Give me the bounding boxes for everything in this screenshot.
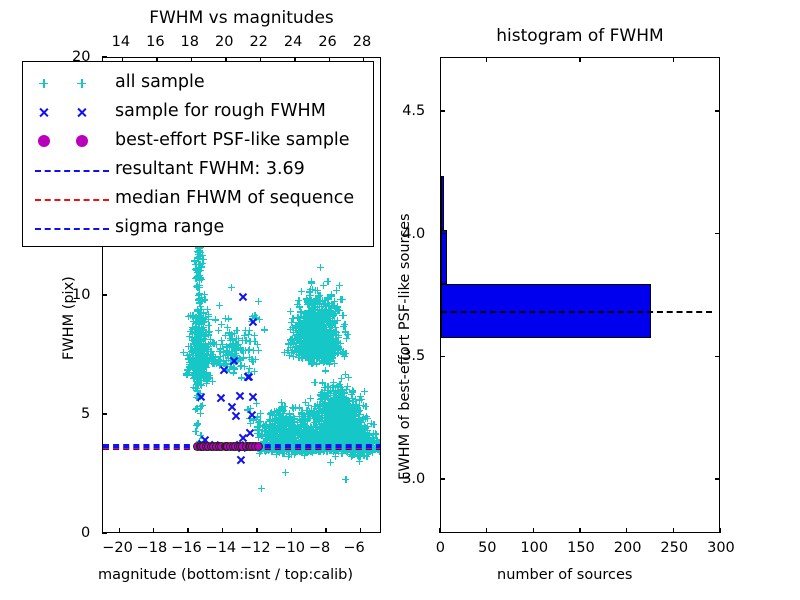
scatter-point-all-sample [322, 303, 329, 310]
scatter-point-all-sample [349, 452, 356, 459]
scatter-point-all-sample [200, 354, 207, 361]
scatter-point-all-sample [304, 298, 311, 305]
scatter-point-all-sample [348, 416, 355, 423]
scatter-point-all-sample [289, 337, 296, 344]
scatter-point-all-sample [192, 329, 199, 336]
scatter-point-all-sample [335, 402, 342, 409]
scatter-point-all-sample [315, 329, 322, 336]
scatter-point-all-sample [320, 324, 327, 331]
scatter-point-all-sample [339, 429, 346, 436]
scatter-point-all-sample [311, 433, 318, 440]
scatter-point-all-sample [303, 311, 310, 318]
scatter-point-all-sample [192, 428, 199, 435]
scatter-point-all-sample [349, 422, 356, 429]
scatter-point-all-sample [265, 434, 272, 441]
scatter-point-all-sample [197, 261, 204, 268]
scatter-point-all-sample [196, 343, 203, 350]
scatter-point-all-sample [304, 330, 311, 337]
legend-item[interactable]: sigma range [31, 213, 363, 242]
scatter-point-all-sample [290, 341, 297, 348]
scatter-point-all-sample [301, 415, 308, 422]
scatter-point-all-sample [370, 430, 377, 437]
scatter-point-all-sample [283, 413, 290, 420]
scatter-point-all-sample [341, 428, 348, 435]
scatter-point-all-sample [316, 317, 323, 324]
scatter-point-all-sample [352, 431, 359, 438]
scatter-point-all-sample [305, 321, 312, 328]
scatter-point-all-sample [361, 436, 368, 443]
scatter-point-all-sample [313, 345, 320, 352]
right-ytick-label: 4.0 [402, 227, 425, 242]
scatter-point-all-sample [287, 308, 294, 315]
scatter-point-all-sample [294, 427, 301, 434]
scatter-point-all-sample [226, 344, 233, 351]
scatter-point-all-sample [290, 432, 297, 439]
scatter-point-all-sample [307, 314, 314, 321]
scatter-point-all-sample [348, 432, 355, 439]
scatter-point-all-sample [297, 349, 304, 356]
scatter-point-all-sample [193, 359, 200, 366]
scatter-point-all-sample [326, 328, 333, 335]
scatter-point-all-sample [352, 412, 359, 419]
scatter-point-all-sample [332, 436, 339, 443]
scatter-point-all-sample [196, 358, 203, 365]
scatter-point-all-sample [326, 317, 333, 324]
scatter-point-all-sample [204, 360, 211, 367]
scatter-point-all-sample [342, 407, 349, 414]
scatter-point-all-sample [328, 292, 335, 299]
scatter-point-all-sample [279, 425, 286, 432]
scatter-point-all-sample [326, 360, 333, 367]
scatter-point-all-sample [195, 355, 202, 362]
scatter-point-all-sample [360, 436, 367, 443]
scatter-point-all-sample [330, 405, 337, 412]
scatter-point-all-sample [307, 329, 314, 336]
scatter-point-all-sample [195, 365, 202, 372]
scatter-point-all-sample [340, 400, 347, 407]
scatter-point-all-sample [343, 426, 350, 433]
scatter-point-all-sample [309, 312, 316, 319]
scatter-point-all-sample [313, 409, 320, 416]
scatter-point-all-sample [227, 351, 234, 358]
scatter-point-all-sample [250, 416, 257, 423]
scatter-point-all-sample [331, 298, 338, 305]
scatter-point-all-sample [341, 416, 348, 423]
scatter-point-all-sample [318, 343, 325, 350]
scatter-point-all-sample [288, 349, 295, 356]
scatter-point-all-sample [187, 363, 194, 370]
scatter-point-all-sample [298, 416, 305, 423]
scatter-point-all-sample [319, 433, 326, 440]
scatter-point-all-sample [195, 369, 202, 376]
legend-item[interactable]: median FHWM of sequence [31, 184, 363, 213]
scatter-point-all-sample [224, 351, 231, 358]
scatter-point-all-sample [302, 399, 309, 406]
scatter-point-all-sample [303, 345, 310, 352]
scatter-point-all-sample [198, 332, 205, 339]
scatter-point-all-sample [333, 404, 340, 411]
scatter-point-all-sample [287, 344, 294, 351]
scatter-point-all-sample [307, 345, 314, 352]
scatter-point-all-sample [194, 269, 201, 276]
scatter-point-all-sample [227, 337, 234, 344]
scatter-point-all-sample [287, 336, 294, 343]
scatter-point-all-sample [313, 417, 320, 424]
scatter-point-all-sample [343, 422, 350, 429]
scatter-point-all-sample [309, 325, 316, 332]
scatter-point-all-sample [306, 339, 313, 346]
scatter-point-all-sample [233, 342, 240, 349]
scatter-point-all-sample [293, 425, 300, 432]
scatter-point-all-sample [322, 327, 329, 334]
scatter-point-all-sample [319, 313, 326, 320]
scatter-point-all-sample [200, 364, 207, 371]
scatter-point-all-sample [323, 351, 330, 358]
scatter-point-all-sample [319, 434, 326, 441]
scatter-point-all-sample [280, 414, 287, 421]
scatter-point-all-sample [314, 287, 321, 294]
scatter-point-all-sample [308, 339, 315, 346]
scatter-point-all-sample [350, 418, 357, 425]
scatter-point-all-sample [196, 276, 203, 283]
scatter-point-all-sample [332, 340, 339, 347]
scatter-point-all-sample [331, 411, 338, 418]
scatter-point-all-sample [217, 358, 224, 365]
scatter-point-all-sample [301, 415, 308, 422]
scatter-point-all-sample [287, 423, 294, 430]
scatter-point-all-sample [220, 349, 227, 356]
scatter-point-all-sample [309, 433, 316, 440]
scatter-point-all-sample [301, 343, 308, 350]
scatter-point-all-sample [337, 436, 344, 443]
scatter-point-all-sample [198, 357, 205, 364]
scatter-point-all-sample [338, 420, 345, 427]
scatter-point-all-sample [304, 301, 311, 308]
scatter-point-all-sample [284, 347, 291, 354]
scatter-point-all-sample [189, 347, 196, 354]
scatter-point-all-sample [189, 337, 196, 344]
scatter-point-all-sample [370, 421, 377, 428]
scatter-point-all-sample [349, 422, 356, 429]
scatter-point-all-sample [341, 321, 348, 328]
scatter-point-all-sample [279, 428, 286, 435]
scatter-point-all-sample [342, 434, 349, 441]
scatter-point-all-sample [320, 342, 327, 349]
scatter-point-all-sample [315, 332, 322, 339]
scatter-point-all-sample [268, 409, 275, 416]
scatter-point-all-sample [314, 343, 321, 350]
scatter-point-all-sample [341, 422, 348, 429]
scatter-point-all-sample [200, 309, 207, 316]
scatter-point-all-sample [198, 355, 205, 362]
scatter-point-all-sample [310, 346, 317, 353]
scatter-point-all-sample [341, 419, 348, 426]
scatter-point-all-sample [272, 429, 279, 436]
legend-item[interactable]: all sample [31, 68, 363, 97]
scatter-point-all-sample [372, 430, 379, 437]
scatter-point-all-sample [297, 313, 304, 320]
scatter-point-all-sample [321, 334, 328, 341]
scatter-point-all-sample [333, 437, 340, 444]
scatter-point-all-sample [192, 358, 199, 365]
scatter-point-all-sample [269, 427, 276, 434]
scatter-point-all-sample [337, 411, 344, 418]
scatter-point-all-sample [313, 325, 320, 332]
scatter-point-all-sample [326, 320, 333, 327]
scatter-point-all-sample [323, 331, 330, 338]
scatter-point-all-sample [223, 367, 230, 374]
scatter-point-all-sample [261, 427, 268, 434]
scatter-point-all-sample [228, 343, 235, 350]
scatter-point-all-sample [323, 314, 330, 321]
scatter-point-all-sample [307, 308, 314, 315]
scatter-point-all-sample [300, 430, 307, 437]
scatter-point-all-sample [321, 344, 328, 351]
scatter-point-all-sample [195, 371, 202, 378]
scatter-point-all-sample [194, 273, 201, 280]
scatter-point-all-sample [329, 347, 336, 354]
scatter-point-all-sample [311, 342, 318, 349]
scatter-point-all-sample [191, 257, 198, 264]
left-xtick-label: −12 [240, 541, 271, 556]
scatter-point-all-sample [298, 409, 305, 416]
scatter-point-all-sample [332, 390, 339, 397]
scatter-point-all-sample [333, 396, 340, 403]
scatter-point-all-sample [327, 405, 334, 412]
scatter-point-all-sample [191, 258, 198, 265]
scatter-point-all-sample [323, 339, 330, 346]
scatter-point-all-sample [330, 329, 337, 336]
scatter-point-all-sample [317, 349, 324, 356]
scatter-point-all-sample [306, 355, 313, 362]
scatter-point-all-sample [247, 405, 254, 412]
scatter-point-all-sample [303, 428, 310, 435]
scatter-point-all-sample [298, 416, 305, 423]
scatter-point-all-sample [294, 314, 301, 321]
scatter-point-all-sample [312, 412, 319, 419]
scatter-point-all-sample [195, 292, 202, 299]
scatter-point-all-sample [319, 353, 326, 360]
scatter-point-all-sample [305, 349, 312, 356]
scatter-point-all-sample [337, 399, 344, 406]
scatter-point-all-sample [275, 435, 282, 442]
scatter-point-all-sample [305, 437, 312, 444]
scatter-point-all-sample [193, 323, 200, 330]
scatter-point-all-sample [264, 430, 271, 437]
scatter-point-all-sample [322, 297, 329, 304]
scatter-point-all-sample [306, 332, 313, 339]
scatter-point-all-sample [319, 306, 326, 313]
scatter-point-all-sample [194, 381, 201, 388]
scatter-point-all-sample [324, 417, 331, 424]
scatter-point-all-sample [337, 421, 344, 428]
legend-item[interactable]: sample for rough FWHM [31, 97, 363, 126]
scatter-point-all-sample [349, 404, 356, 411]
scatter-point-all-sample [325, 426, 332, 433]
histogram-median-line [441, 311, 712, 313]
scatter-point-all-sample [328, 324, 335, 331]
scatter-point-all-sample [203, 329, 210, 336]
legend-item[interactable]: best-effort PSF-like sample [31, 126, 363, 155]
scatter-point-all-sample [314, 344, 321, 351]
legend-item[interactable]: resultant FWHM: 3.69 [31, 155, 363, 184]
scatter-point-all-sample [326, 403, 333, 410]
scatter-point-all-sample [314, 348, 321, 355]
scatter-point-all-sample [195, 308, 202, 315]
scatter-point-all-sample [327, 425, 334, 432]
scatter-point-all-sample [195, 268, 202, 275]
scatter-point-all-sample [315, 343, 322, 350]
scatter-point-all-sample [292, 323, 299, 330]
scatter-point-all-sample [327, 344, 334, 351]
scatter-point-all-sample [325, 342, 332, 349]
scatter-point-all-sample [345, 411, 352, 418]
scatter-point-all-sample [322, 314, 329, 321]
scatter-point-all-sample [275, 422, 282, 429]
scatter-point-all-sample [338, 417, 345, 424]
scatter-point-all-sample [324, 352, 331, 359]
scatter-point-all-sample [338, 406, 345, 413]
scatter-point-all-sample [328, 413, 335, 420]
scatter-point-all-sample [338, 391, 345, 398]
scatter-point-all-sample [330, 342, 337, 349]
scatter-point-all-sample [195, 366, 202, 373]
scatter-point-all-sample [354, 452, 361, 459]
scatter-point-all-sample [338, 392, 345, 399]
scatter-point-all-sample [330, 410, 337, 417]
scatter-point-all-sample [280, 435, 287, 442]
scatter-point-all-sample [320, 420, 327, 427]
scatter-point-all-sample [312, 345, 319, 352]
scatter-point-all-sample [326, 344, 333, 351]
scatter-point-all-sample [314, 318, 321, 325]
scatter-point-all-sample [205, 316, 212, 323]
scatter-point-all-sample [194, 420, 201, 427]
scatter-point-all-sample [195, 348, 202, 355]
scatter-point-all-sample [195, 344, 202, 351]
scatter-point-all-sample [194, 343, 201, 350]
scatter-point-all-sample [330, 311, 337, 318]
scatter-point-all-sample [307, 423, 314, 430]
scatter-point-all-sample [310, 313, 317, 320]
scatter-point-all-sample [250, 347, 257, 354]
scatter-point-all-sample [305, 347, 312, 354]
scatter-point-all-sample [335, 416, 342, 423]
scatter-point-all-sample [324, 336, 331, 343]
scatter-point-all-sample [327, 358, 334, 365]
scatter-point-all-sample [339, 421, 346, 428]
scatter-point-all-sample [323, 418, 330, 425]
scatter-point-all-sample [192, 352, 199, 359]
scatter-point-all-sample [271, 435, 278, 442]
scatter-point-all-sample [299, 415, 306, 422]
scatter-point-all-sample [311, 347, 318, 354]
scatter-point-all-sample [340, 350, 347, 357]
scatter-point-all-sample [308, 343, 315, 350]
scatter-point-all-sample [321, 319, 328, 326]
scatter-point-all-sample [335, 349, 342, 356]
scatter-point-all-sample [341, 416, 348, 423]
scatter-point-all-sample [327, 459, 334, 466]
scatter-point-all-sample [193, 325, 200, 332]
scatter-point-all-sample [318, 313, 325, 320]
scatter-point-all-sample [271, 435, 278, 442]
scatter-point-all-sample [196, 332, 203, 339]
scatter-point-all-sample [306, 351, 313, 358]
scatter-point-all-sample [298, 351, 305, 358]
scatter-point-all-sample [369, 435, 376, 442]
scatter-point-all-sample [320, 337, 327, 344]
scatter-point-all-sample [339, 386, 346, 393]
scatter-point-all-sample [340, 413, 347, 420]
left-xtick-top-label: 16 [146, 35, 164, 50]
left-ytick-label: 5 [81, 407, 90, 422]
scatter-point-all-sample [201, 371, 208, 378]
legend-item-label: best-effort PSF-like sample [115, 132, 350, 150]
scatter-point-all-sample [264, 432, 271, 439]
fwhm-histogram-axes [440, 57, 720, 533]
scatter-point-all-sample [343, 420, 350, 427]
scatter-point-all-sample [206, 356, 213, 363]
scatter-point-all-sample [353, 422, 360, 429]
scatter-point-all-sample [311, 415, 318, 422]
scatter-point-all-sample [324, 330, 331, 337]
scatter-point-all-sample [224, 324, 231, 331]
scatter-point-all-sample [322, 316, 329, 323]
scatter-point-all-sample [325, 342, 332, 349]
scatter-point-all-sample [315, 334, 322, 341]
scatter-point-all-sample [203, 376, 210, 383]
scatter-point-all-sample [307, 297, 314, 304]
scatter-point-all-sample [238, 347, 245, 354]
scatter-point-rough-sample [229, 357, 238, 366]
scatter-point-all-sample [309, 338, 316, 345]
scatter-point-all-sample [368, 420, 375, 427]
scatter-point-all-sample [365, 432, 372, 439]
scatter-point-all-sample [333, 332, 340, 339]
scatter-point-all-sample [217, 345, 224, 352]
scatter-point-all-sample [323, 340, 330, 347]
scatter-point-all-sample [345, 417, 352, 424]
scatter-point-all-sample [318, 425, 325, 432]
scatter-point-all-sample [331, 417, 338, 424]
scatter-point-all-sample [200, 360, 207, 367]
scatter-point-all-sample [297, 308, 304, 315]
scatter-point-all-sample [314, 343, 321, 350]
scatter-point-all-sample [306, 343, 313, 350]
scatter-point-all-sample [205, 313, 212, 320]
scatter-point-all-sample [319, 406, 326, 413]
scatter-point-all-sample [318, 436, 325, 443]
scatter-point-all-sample [328, 409, 335, 416]
scatter-point-all-sample [201, 374, 208, 381]
scatter-point-all-sample [216, 302, 223, 309]
scatter-point-all-sample [310, 354, 317, 361]
cross-marker [38, 107, 49, 118]
scatter-point-all-sample [307, 395, 314, 402]
scatter-point-all-sample [331, 411, 338, 418]
scatter-point-all-sample [316, 297, 323, 304]
scatter-point-all-sample [327, 411, 334, 418]
scatter-point-all-sample [325, 392, 332, 399]
scatter-point-all-sample [196, 295, 203, 302]
scatter-point-all-sample [316, 328, 323, 335]
scatter-point-all-sample [360, 402, 367, 409]
scatter-point-all-sample [301, 415, 308, 422]
scatter-point-all-sample [326, 431, 333, 438]
scatter-point-all-sample [278, 424, 285, 431]
scatter-point-all-sample [335, 343, 342, 350]
